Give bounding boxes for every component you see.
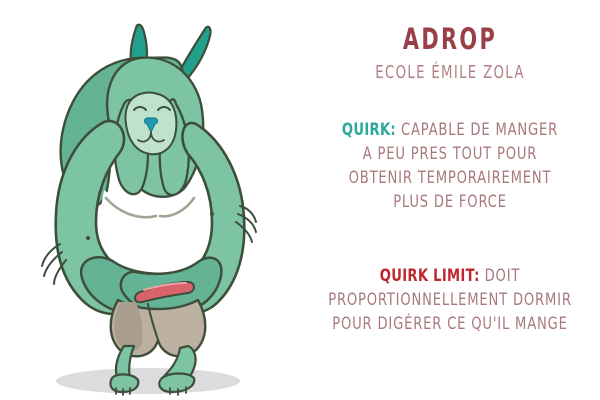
ground-shadow-shape [56, 368, 240, 394]
arm-detail-dot-left [86, 236, 90, 240]
character-drawing [0, 0, 300, 400]
quirk-line-4: PLUS DE FORCE [321, 190, 579, 214]
quirk-line-2: A PEU PRES TOUT POUR [321, 142, 579, 166]
character-school: ECOLE ÉMILE ZOLA [327, 62, 573, 83]
quirk-limit-line-3: POUR DIGÉRER CE QU'IL MANGE [321, 312, 579, 336]
quirk-limit-line-1-text: DOIT [485, 266, 521, 286]
quirk-limit-label: QUIRK LIMIT: [380, 266, 480, 286]
character-name: ADROP [330, 22, 570, 56]
quirk-label: QUIRK: [342, 120, 396, 140]
foot-left-shape [110, 374, 138, 392]
character-illustration [0, 0, 300, 400]
quirk-block: QUIRK: CAPABLE DE MANGER A PEU PRES TOUT… [300, 118, 600, 214]
quirk-limit-line-1: QUIRK LIMIT: DOIT [321, 264, 579, 288]
quirk-limit-line-2: PROPORTIONNELLEMENT DORMIR [321, 288, 579, 312]
quirk-line-1: QUIRK: CAPABLE DE MANGER [321, 118, 579, 142]
quirk-line-1-text: CAPABLE DE MANGER [401, 120, 558, 140]
quirk-line-3: OBTENIR TEMPORAIREMENT [321, 166, 579, 190]
foot-right-shape [159, 374, 194, 393]
character-info-panel: ADROP ECOLE ÉMILE ZOLA QUIRK: CAPABLE DE… [300, 0, 600, 400]
quirk-limit-block: QUIRK LIMIT: DOIT PROPORTIONNELLEMENT DO… [300, 264, 600, 336]
arm-detail-dot-right [210, 212, 214, 216]
character-profile-card: ADROP ECOLE ÉMILE ZOLA QUIRK: CAPABLE DE… [0, 0, 600, 400]
